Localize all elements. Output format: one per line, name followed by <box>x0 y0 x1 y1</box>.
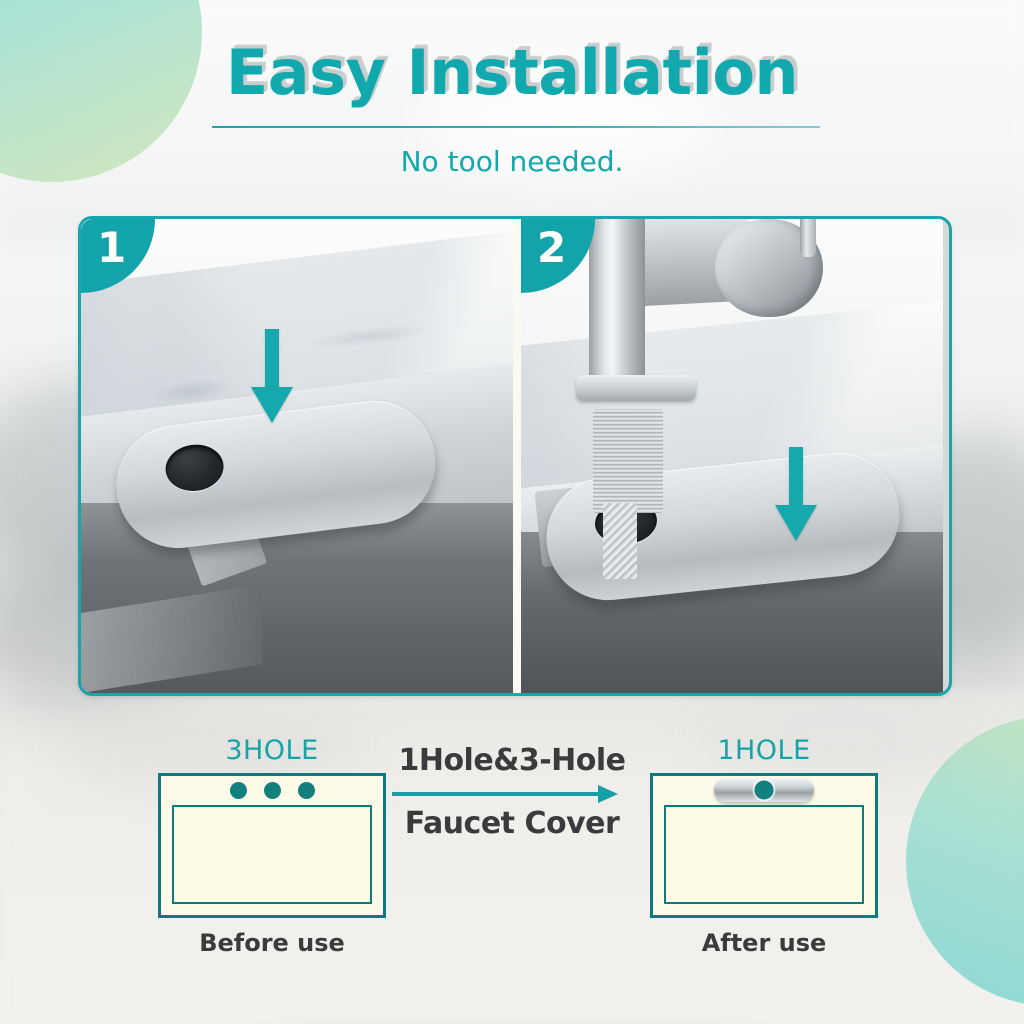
faucet-threaded-shank <box>593 409 663 513</box>
before-sink-diagram <box>158 773 386 918</box>
after-caption: After use <box>650 929 878 957</box>
faucet-cover-plate-icon <box>714 778 814 802</box>
faucet-braided-hose <box>603 503 637 579</box>
center-line-2: Faucet Cover <box>392 806 632 841</box>
right-arrow-icon <box>392 782 632 804</box>
before-hole-group <box>161 782 383 799</box>
faucet-stem <box>800 219 816 257</box>
before-after-comparison: 3HOLE Before use 1Hole&3-Hole Faucet Cov… <box>0 735 1024 975</box>
after-sink-basin-outline <box>664 805 864 904</box>
step-1-photo: 1 <box>81 219 513 693</box>
before-title: 3HOLE <box>158 735 386 766</box>
installation-steps-panel: 1 2 <box>78 216 952 696</box>
down-arrow-icon <box>773 447 819 543</box>
sink-hole-dot <box>298 782 315 799</box>
before-caption: Before use <box>158 929 386 957</box>
page-subtitle: No tool needed. <box>0 145 1024 178</box>
title-underline <box>212 126 820 128</box>
page-title: Easy Installation <box>0 36 1024 109</box>
step1-plate-hole <box>163 442 226 495</box>
step1-basin-wall <box>81 585 262 693</box>
comparison-after: 1HOLE After use <box>650 735 878 957</box>
down-arrow-icon <box>249 329 295 425</box>
arrow-head <box>598 785 618 803</box>
before-sink-basin-outline <box>172 805 372 904</box>
faucet-body-column <box>589 219 645 399</box>
sink-hole-dot <box>755 781 774 800</box>
infographic-canvas: Easy Installation No tool needed. 1 <box>0 0 1024 1024</box>
sink-hole-dot <box>230 782 247 799</box>
comparison-before: 3HOLE Before use <box>158 735 386 957</box>
faucet-base-collar <box>576 375 696 401</box>
after-sink-diagram <box>650 773 878 918</box>
comparison-center-label: 1Hole&3-Hole Faucet Cover <box>392 743 632 841</box>
step-2-photo: 2 <box>521 219 943 693</box>
sink-hole-dot <box>264 782 281 799</box>
panel-divider <box>513 219 521 693</box>
arrow-shaft <box>392 792 604 796</box>
center-line-1: 1Hole&3-Hole <box>392 743 632 778</box>
after-title: 1HOLE <box>650 735 878 766</box>
